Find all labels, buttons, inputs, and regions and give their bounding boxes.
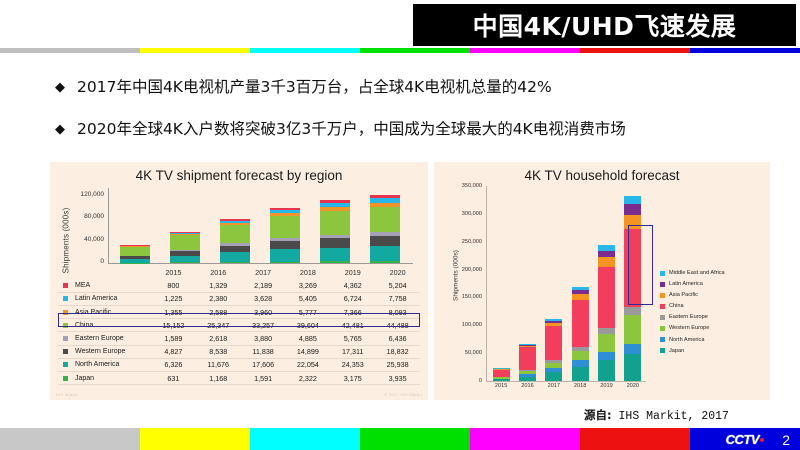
title-color-rule xyxy=(0,48,800,53)
bar-segment xyxy=(493,379,510,381)
bar-segment xyxy=(624,307,641,314)
table-cell: 17,606 xyxy=(241,358,286,371)
right-chart-yaxis-line xyxy=(486,186,487,382)
table-cell: 6,326 xyxy=(151,358,196,371)
table-cell: 3,175 xyxy=(330,371,375,384)
source-label: 源自: xyxy=(584,408,612,422)
legend-swatch xyxy=(660,271,665,276)
legend-label: Japan xyxy=(669,348,684,354)
bar-segment xyxy=(598,334,615,352)
bar-segment xyxy=(624,215,641,229)
bar-stack xyxy=(572,287,589,381)
bullet-item: ◆ 2017年中国4K电视机产量3千3百万台，占全球4K电视机总量的42% xyxy=(55,76,552,98)
color-band xyxy=(0,48,140,53)
table-row-label: China xyxy=(73,319,151,332)
color-band xyxy=(360,48,470,53)
legend-item: China xyxy=(660,303,725,309)
legend-swatch xyxy=(63,362,68,367)
table-cell: 2,380 xyxy=(196,292,241,305)
legend-swatch xyxy=(660,326,665,331)
legend-item: Eastern Europe xyxy=(660,314,725,320)
table-cell: 3,960 xyxy=(241,305,286,318)
table-cell: 1,168 xyxy=(196,371,241,384)
footer-color-rule xyxy=(0,428,800,450)
bar-segment xyxy=(519,347,536,369)
legend-item: Asia Pacific xyxy=(660,292,725,298)
legend-swatch-cell xyxy=(58,345,73,358)
bar-stack xyxy=(598,245,615,381)
legend-item: North America xyxy=(660,337,725,343)
table-cell: 42,481 xyxy=(330,319,375,332)
bar-segment xyxy=(624,315,641,344)
bar-segment xyxy=(519,377,536,381)
right-chart-xaxis-line xyxy=(486,381,646,382)
table-cell: 5,765 xyxy=(330,332,375,345)
color-band xyxy=(580,48,690,53)
bar-stack xyxy=(493,368,510,381)
bar-segment xyxy=(572,351,589,360)
color-band xyxy=(470,428,580,450)
table-cell: 39,604 xyxy=(286,319,331,332)
table-cell: 2,618 xyxy=(196,332,241,345)
legend-swatch-cell xyxy=(58,358,73,371)
bullet-text: 2020年全球4K入户数将突破3亿3千万户，中国成为全球最大的4K电视消费市场 xyxy=(77,118,626,140)
source-attribution: 源自: IHS Markit, 2017 xyxy=(584,407,729,423)
table-cell: 25,938 xyxy=(375,358,420,371)
legend-swatch xyxy=(63,336,68,341)
bar-segment xyxy=(320,211,350,235)
table-row-label: Asia Pacific xyxy=(73,305,151,318)
table-cell: 14,899 xyxy=(286,345,331,358)
right-chart-panel: 4K TV household forecast Shipments (000s… xyxy=(434,162,770,400)
legend-item: Western Europe xyxy=(660,325,725,331)
table-row-label: MEA xyxy=(73,280,151,293)
left-chart-bars xyxy=(110,190,410,263)
table-row: MEA8001,3292,1893,2694,3625,204 xyxy=(58,280,420,293)
table-cell: 1,329 xyxy=(196,280,241,293)
table-column-header: 2018 xyxy=(286,266,331,280)
axis-tick-label: 80,000 xyxy=(50,213,104,220)
table-row: Japan6311,1681,5912,3223,1753,935 xyxy=(58,371,420,384)
legend-label: Middle East and Africa xyxy=(669,270,725,276)
table-cell: 44,488 xyxy=(375,319,420,332)
bullet-text: 2017年中国4K电视机产量3千3百万台，占全球4K电视机总量的42% xyxy=(77,76,552,98)
bar-segment xyxy=(572,367,589,381)
bullet-marker-icon: ◆ xyxy=(55,76,65,98)
axis-tick-label: 120,000 xyxy=(50,191,104,198)
axis-tick-label: 0 xyxy=(50,258,104,265)
axis-tick-label: 2018 xyxy=(572,383,589,389)
table-cell: 3,880 xyxy=(241,332,286,345)
legend-swatch xyxy=(63,310,68,315)
left-chart-xaxis-line xyxy=(108,263,413,264)
left-chart-yaxis-line xyxy=(108,188,109,264)
bar-stack xyxy=(370,195,400,263)
bar-segment xyxy=(320,248,350,262)
legend-swatch xyxy=(63,323,68,328)
bar-segment xyxy=(598,251,615,258)
table-cell: 7,366 xyxy=(330,305,375,318)
bar-stack xyxy=(320,200,350,263)
left-chart-panel: 4K TV shipment forecast by region Shipme… xyxy=(50,162,428,400)
table-cell: 3,935 xyxy=(375,371,420,384)
slide-title-bar: 中国4K/UHD飞速发展 xyxy=(413,4,796,46)
bar-stack xyxy=(545,319,562,381)
bar-segment xyxy=(572,300,589,347)
table-row: Western Europe4,8278,53811,83814,89917,3… xyxy=(58,345,420,358)
legend-swatch-cell xyxy=(58,319,73,332)
table-row-label: Eastern Europe xyxy=(73,332,151,345)
table-cell: 4,885 xyxy=(286,332,331,345)
left-panel-footnote-left: IHS Markit xyxy=(56,392,78,397)
legend-label: Eastern Europe xyxy=(669,314,708,320)
cctv-logo-dot-icon xyxy=(760,438,764,442)
bar-stack xyxy=(220,219,250,263)
table-cell: 631 xyxy=(151,371,196,384)
table-row: Eastern Europe1,5892,6183,8804,8855,7656… xyxy=(58,332,420,345)
table-cell: 1,591 xyxy=(241,371,286,384)
table-cell: 1,589 xyxy=(151,332,196,345)
legend-swatch-cell xyxy=(58,371,73,384)
axis-tick-label: 2015 xyxy=(493,383,510,389)
table-cell: 1,225 xyxy=(151,292,196,305)
bar-segment xyxy=(598,360,615,381)
axis-tick-label: 100,000 xyxy=(462,322,482,328)
bar-segment xyxy=(220,262,250,263)
right-chart-bars xyxy=(488,186,646,381)
left-panel-footnote-right: © 2017 IHS Markit xyxy=(384,392,422,397)
table-cell: 4,362 xyxy=(330,280,375,293)
bar-stack xyxy=(519,344,536,381)
table-cell: 1,355 xyxy=(151,305,196,318)
legend-swatch xyxy=(660,293,665,298)
axis-tick-label: 200,000 xyxy=(462,267,482,273)
table-cell: 5,204 xyxy=(375,280,420,293)
legend-swatch xyxy=(660,337,665,342)
axis-tick-label: 350,000 xyxy=(462,183,482,189)
axis-tick-label: 2016 xyxy=(519,383,536,389)
bar-segment xyxy=(320,238,350,248)
table-cell: 2,588 xyxy=(196,305,241,318)
right-chart-yaxis-ticks: 050,000100,000150,000200,000250,000300,0… xyxy=(438,186,484,382)
legend-swatch-cell xyxy=(58,280,73,293)
color-band xyxy=(140,48,250,53)
table-cell: 6,724 xyxy=(330,292,375,305)
axis-tick-label: 40,000 xyxy=(50,236,104,243)
bar-stack xyxy=(170,232,200,263)
bar-segment xyxy=(624,229,641,307)
table-column-header: 2015 xyxy=(151,266,196,280)
table-cell: 8,093 xyxy=(375,305,420,318)
bar-segment xyxy=(624,354,641,381)
axis-tick-label: 150,000 xyxy=(462,294,482,300)
bar-segment xyxy=(545,372,562,381)
color-band xyxy=(360,428,470,450)
legend-item: Latin America xyxy=(660,281,725,287)
legend-swatch xyxy=(660,304,665,309)
table-cell: 5,777 xyxy=(286,305,331,318)
legend-item: Japan xyxy=(660,348,725,354)
color-band xyxy=(140,428,250,450)
legend-label: China xyxy=(669,303,684,309)
legend-label: Western Europe xyxy=(669,325,709,331)
bar-segment xyxy=(120,247,150,256)
bar-segment xyxy=(370,236,400,247)
legend-swatch xyxy=(63,376,68,381)
legend-swatch xyxy=(63,283,68,288)
legend-swatch xyxy=(660,348,665,353)
right-chart-title: 4K TV household forecast xyxy=(434,168,770,183)
axis-tick-label: 2020 xyxy=(624,383,641,389)
table-cell: 22,054 xyxy=(286,358,331,371)
left-chart-yaxis-ticks: 040,00080,000120,000 xyxy=(50,188,106,264)
table-cell: 17,311 xyxy=(330,345,375,358)
table-cell: 2,189 xyxy=(241,280,286,293)
bar-segment xyxy=(270,241,300,249)
bar-segment xyxy=(320,261,350,263)
table-row: Latin America1,2252,3803,6285,4056,7247,… xyxy=(58,292,420,305)
legend-swatch-cell xyxy=(58,305,73,318)
color-band xyxy=(0,428,140,450)
table-column-header: 2019 xyxy=(330,266,375,280)
table-cell: 4,827 xyxy=(151,345,196,358)
legend-swatch xyxy=(660,315,665,320)
axis-tick-label: 300,000 xyxy=(462,211,482,217)
bar-segment xyxy=(624,344,641,355)
bar-stack xyxy=(270,208,300,263)
table-cell: 8,538 xyxy=(196,345,241,358)
bar-segment xyxy=(220,246,250,253)
bar-segment xyxy=(545,326,562,359)
table-row: China15,15225,34733,25739,60442,48144,48… xyxy=(58,319,420,332)
legend-label: Asia Pacific xyxy=(669,292,698,298)
right-chart-legend: Middle East and AfricaLatin AmericaAsia … xyxy=(660,270,725,359)
color-band xyxy=(690,48,800,53)
legend-label: North America xyxy=(669,337,704,343)
axis-tick-label: 0 xyxy=(479,378,482,384)
table-column-header: 2020 xyxy=(375,266,420,280)
table-row-label: Japan xyxy=(73,371,151,384)
legend-label: Latin America xyxy=(669,281,703,287)
legend-swatch-cell xyxy=(58,292,73,305)
table-row-label: Latin America xyxy=(73,292,151,305)
page-title: 中国4K/UHD飞速发展 xyxy=(473,7,737,43)
color-band xyxy=(580,428,690,450)
bar-segment xyxy=(220,225,250,244)
left-chart-title: 4K TV shipment forecast by region xyxy=(50,168,428,183)
bullet-marker-icon: ◆ xyxy=(55,118,65,140)
bar-segment xyxy=(220,252,250,262)
right-chart-xaxis-labels: 201520162017201820192020 xyxy=(488,383,646,389)
bar-segment xyxy=(598,267,615,328)
table-row: North America6,32611,67617,60622,05424,3… xyxy=(58,358,420,371)
legend-swatch xyxy=(63,296,68,301)
table-cell: 18,832 xyxy=(375,345,420,358)
table-cell: 11,838 xyxy=(241,345,286,358)
bullet-item: ◆ 2020年全球4K入户数将突破3亿3千万户，中国成为全球最大的4K电视消费市… xyxy=(55,118,626,140)
page-number: 2 xyxy=(782,432,790,448)
table-cell: 3,628 xyxy=(241,292,286,305)
table-cell: 6,436 xyxy=(375,332,420,345)
axis-tick-label: 2017 xyxy=(545,383,562,389)
axis-tick-label: 250,000 xyxy=(462,239,482,245)
table-cell: 5,405 xyxy=(286,292,331,305)
table-cell: 15,152 xyxy=(151,319,196,332)
bar-segment xyxy=(270,262,300,263)
table-cell: 11,676 xyxy=(196,358,241,371)
bar-segment xyxy=(624,196,641,205)
bar-segment xyxy=(170,262,200,263)
color-band xyxy=(250,48,360,53)
bar-segment xyxy=(370,261,400,263)
bar-stack xyxy=(120,245,150,263)
legend-swatch xyxy=(660,282,665,287)
legend-swatch xyxy=(63,349,68,354)
table-column-header: 2016 xyxy=(196,266,241,280)
legend-item: Middle East and Africa xyxy=(660,270,725,276)
table-row-label: North America xyxy=(73,358,151,371)
axis-tick-label: 2019 xyxy=(598,383,615,389)
bar-segment xyxy=(598,352,615,360)
color-band xyxy=(250,428,360,450)
table-cell: 2,322 xyxy=(286,371,331,384)
axis-tick-label: 50,000 xyxy=(465,350,482,356)
table-cell: 7,758 xyxy=(375,292,420,305)
bar-segment xyxy=(370,207,400,232)
color-band xyxy=(470,48,580,53)
table-row-label: Western Europe xyxy=(73,345,151,358)
left-data-table: 201520162017201820192020MEA8001,3292,189… xyxy=(58,266,420,385)
table-row: Asia Pacific1,3552,5883,9605,7777,3668,0… xyxy=(58,305,420,318)
table-cell: 33,257 xyxy=(241,319,286,332)
table-cell: 25,347 xyxy=(196,319,241,332)
table-cell: 24,353 xyxy=(330,358,375,371)
cctv-logo-text: CCTV xyxy=(726,432,759,447)
bar-segment xyxy=(170,235,200,249)
bar-segment xyxy=(598,257,615,266)
bar-segment xyxy=(370,246,400,261)
table-cell: 800 xyxy=(151,280,196,293)
legend-swatch-cell xyxy=(58,332,73,345)
table-cell: 3,269 xyxy=(286,280,331,293)
bar-segment xyxy=(270,216,300,238)
source-value: IHS Markit, 2017 xyxy=(619,410,729,423)
bar-segment xyxy=(493,370,510,377)
table-header-row: 201520162017201820192020 xyxy=(58,266,420,280)
bar-stack xyxy=(624,196,641,381)
table-column-header: 2017 xyxy=(241,266,286,280)
cctv-logo: CCTV xyxy=(726,432,764,447)
bar-segment xyxy=(270,249,300,261)
bar-segment xyxy=(624,204,641,215)
